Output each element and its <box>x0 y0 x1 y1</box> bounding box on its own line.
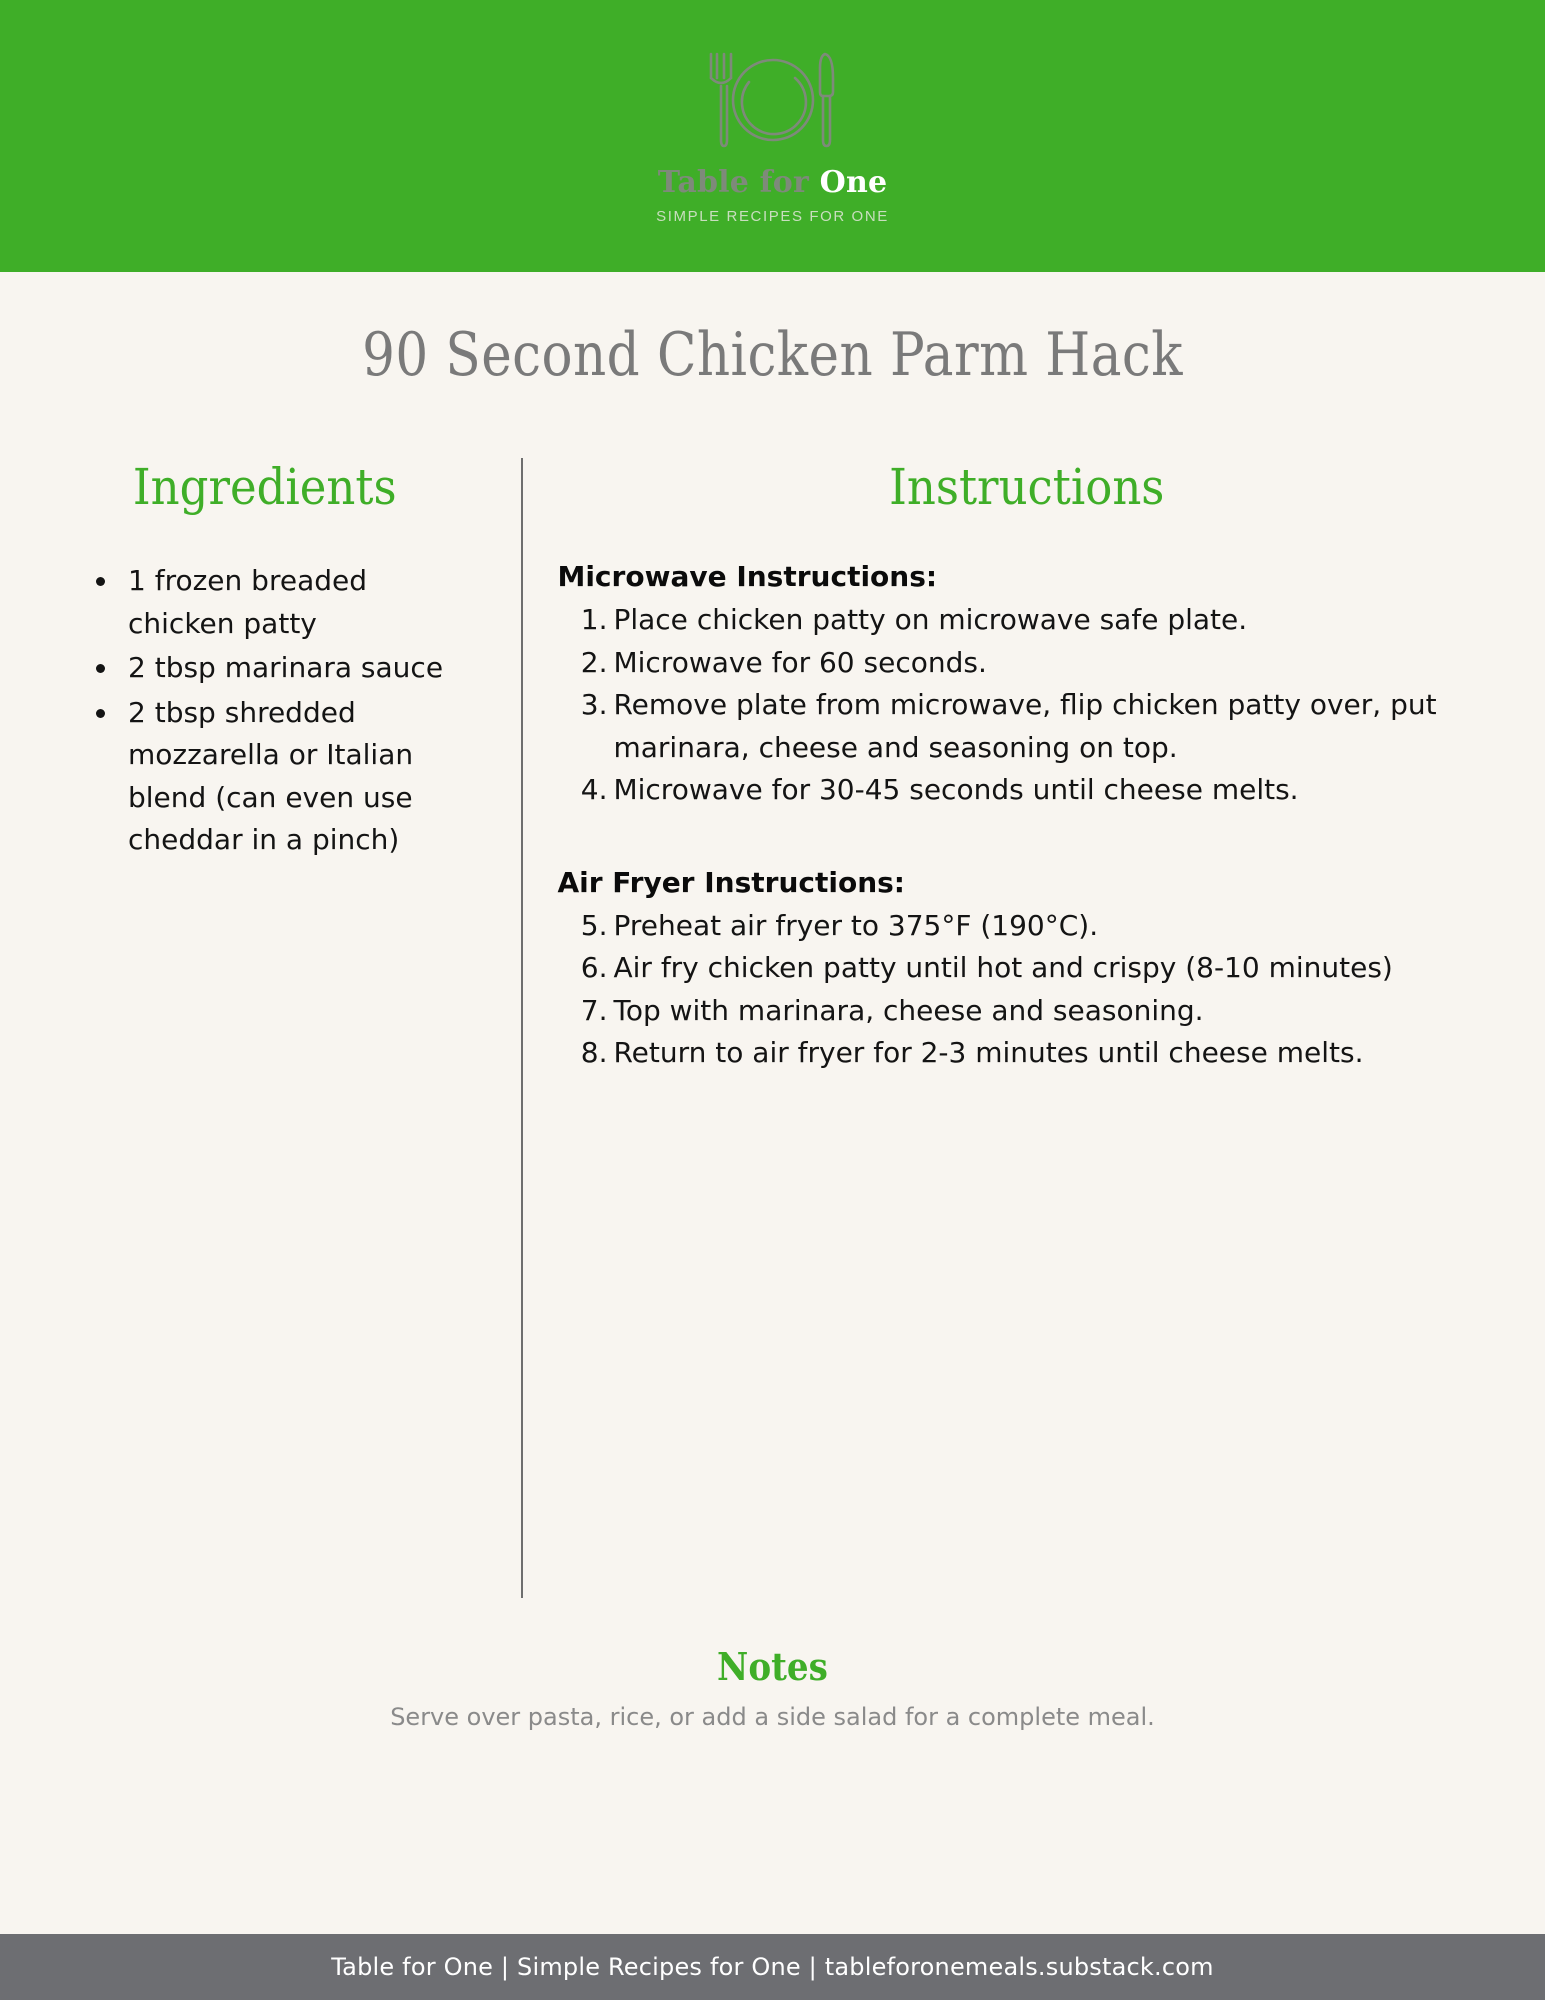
brand-header: Table for One SIMPLE RECIPES FOR ONE <box>0 0 1545 272</box>
step-number: 1. <box>557 599 613 642</box>
content-columns: Ingredients 1 frozen breaded chicken pat… <box>0 458 1545 1598</box>
step-text: Return to air fryer for 2-3 minutes unti… <box>613 1032 1497 1075</box>
air-fryer-instructions-heading: Air Fryer Instructions: <box>557 866 1497 899</box>
air-fryer-steps-list: 5. Preheat air fryer to 375°F (190°C). 6… <box>557 905 1497 1075</box>
step-number: 7. <box>557 990 613 1033</box>
step-text: Microwave for 30-45 seconds until cheese… <box>613 769 1497 812</box>
step-text: Microwave for 60 seconds. <box>613 642 1497 685</box>
brand-primary-text: Table for <box>658 165 820 200</box>
instructions-column: Instructions Microwave Instructions: 1. … <box>523 458 1497 1075</box>
step-text: Top with marinara, cheese and seasoning. <box>613 990 1497 1033</box>
list-item: 2 tbsp marinara sauce <box>120 647 481 690</box>
step-number: 4. <box>557 769 613 812</box>
step-number: 8. <box>557 1032 613 1075</box>
notes-section: Notes Serve over pasta, rice, or add a s… <box>0 1644 1545 1731</box>
list-item: 2. Microwave for 60 seconds. <box>557 642 1497 685</box>
step-text: Remove plate from microwave, flip chicke… <box>613 684 1497 769</box>
list-item: 1 frozen breaded chicken patty <box>120 560 481 645</box>
notes-body: Serve over pasta, rice, or add a side sa… <box>0 1703 1545 1731</box>
step-number: 6. <box>557 947 613 990</box>
brand-tagline: SIMPLE RECIPES FOR ONE <box>656 208 889 225</box>
microwave-instructions-heading: Microwave Instructions: <box>557 560 1497 593</box>
list-item: 7. Top with marinara, cheese and seasoni… <box>557 990 1497 1033</box>
brand-accent-text: One <box>820 165 888 200</box>
footer-text: Table for One | Simple Recipes for One |… <box>331 1953 1213 1981</box>
fork-plate-knife-icon <box>683 48 863 160</box>
ingredients-column: Ingredients 1 frozen breaded chicken pat… <box>48 458 521 864</box>
brand-wordmark: Table for One <box>658 168 888 198</box>
step-number: 3. <box>557 684 613 727</box>
page-title: 90 Second Chicken Parm Hack <box>108 272 1437 400</box>
step-text: Air fry chicken patty until hot and cris… <box>613 947 1497 990</box>
list-item: 5. Preheat air fryer to 375°F (190°C). <box>557 905 1497 948</box>
list-item: 8. Return to air fryer for 2-3 minutes u… <box>557 1032 1497 1075</box>
instructions-heading: Instructions <box>604 458 1450 516</box>
list-item: 4. Microwave for 30-45 seconds until che… <box>557 769 1497 812</box>
list-item: 1. Place chicken patty on microwave safe… <box>557 599 1497 642</box>
recipe-card: Table for One SIMPLE RECIPES FOR ONE 90 … <box>0 0 1545 2000</box>
list-item: 6. Air fry chicken patty until hot and c… <box>557 947 1497 990</box>
step-text: Preheat air fryer to 375°F (190°C). <box>613 905 1497 948</box>
list-item: 2 tbsp shredded mozzarella or Italian bl… <box>120 692 481 862</box>
step-number: 5. <box>557 905 613 948</box>
notes-heading: Notes <box>77 1644 1468 1689</box>
list-item: 3. Remove plate from microwave, flip chi… <box>557 684 1497 769</box>
ingredients-heading: Ingredients <box>70 458 460 516</box>
step-text: Place chicken patty on microwave safe pl… <box>613 599 1497 642</box>
microwave-steps-list: 1. Place chicken patty on microwave safe… <box>557 599 1497 812</box>
step-number: 2. <box>557 642 613 685</box>
page-footer: Table for One | Simple Recipes for One |… <box>0 1934 1545 2000</box>
ingredients-list: 1 frozen breaded chicken patty 2 tbsp ma… <box>48 560 481 862</box>
